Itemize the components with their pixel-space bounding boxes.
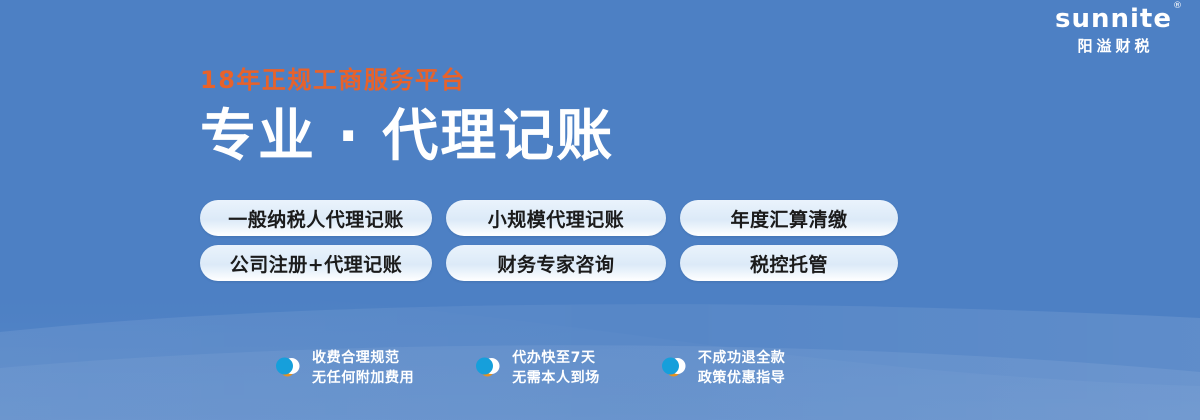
registered-trademark-icon: ® xyxy=(1173,2,1183,11)
feature-text-pricing: 收费合理规范 无任何附加费用 xyxy=(312,348,414,389)
feature-line-1: 代办快至7天 xyxy=(512,350,595,366)
logo-wordmark-text: sunnite xyxy=(1055,4,1172,34)
feature-text-guarantee: 不成功退全款 政策优惠指导 xyxy=(698,348,786,389)
headline-block: 18年正规工商服务平台 专业 · 代理记账 xyxy=(200,68,614,167)
logo-wordmark: sunnite ® xyxy=(1055,6,1172,32)
circle-badge-icon xyxy=(472,352,502,384)
feature-item-pricing: 收费合理规范 无任何附加费用 xyxy=(272,348,414,389)
service-pill-row: 一般纳税人代理记账 小规模代理记账 年度汇算清缴 xyxy=(200,200,898,236)
service-pill-small-scale[interactable]: 小规模代理记账 xyxy=(446,200,666,236)
circle-badge-icon xyxy=(658,352,688,384)
service-pill-company-registration[interactable]: 公司注册+代理记账 xyxy=(200,245,432,281)
promo-banner: sunnite ® 阳溢财税 18年正规工商服务平台 专业 · 代理记账 一般纳… xyxy=(0,0,1200,420)
feature-line-1: 收费合理规范 xyxy=(312,350,400,366)
feature-text-speed: 代办快至7天 无需本人到场 xyxy=(512,348,600,389)
feature-line-1: 不成功退全款 xyxy=(698,350,786,366)
service-pill-grid: 一般纳税人代理记账 小规模代理记账 年度汇算清缴 公司注册+代理记账 财务专家咨… xyxy=(200,200,898,281)
feature-line-2: 无任何附加费用 xyxy=(312,370,414,386)
logo-chinese-name: 阳溢财税 xyxy=(1055,39,1172,54)
feature-item-guarantee: 不成功退全款 政策优惠指导 xyxy=(658,348,786,389)
service-pill-general-taxpayer[interactable]: 一般纳税人代理记账 xyxy=(200,200,432,236)
service-pill-annual-settlement[interactable]: 年度汇算清缴 xyxy=(680,200,898,236)
feature-line-2: 无需本人到场 xyxy=(512,370,600,386)
service-pill-finance-consulting[interactable]: 财务专家咨询 xyxy=(446,245,666,281)
service-pill-tax-control-custody[interactable]: 税控托管 xyxy=(680,245,898,281)
page-title: 专业 · 代理记账 xyxy=(200,108,614,167)
circle-badge-icon xyxy=(272,352,302,384)
service-pill-row: 公司注册+代理记账 财务专家咨询 税控托管 xyxy=(200,245,898,281)
feature-item-speed: 代办快至7天 无需本人到场 xyxy=(472,348,600,389)
feature-line-2: 政策优惠指导 xyxy=(698,370,786,386)
feature-list: 收费合理规范 无任何附加费用 代办快至7天 无需本人到场 xyxy=(272,348,785,389)
eyebrow-text: 18年正规工商服务平台 xyxy=(200,68,614,92)
brand-logo: sunnite ® 阳溢财税 xyxy=(1055,6,1172,54)
